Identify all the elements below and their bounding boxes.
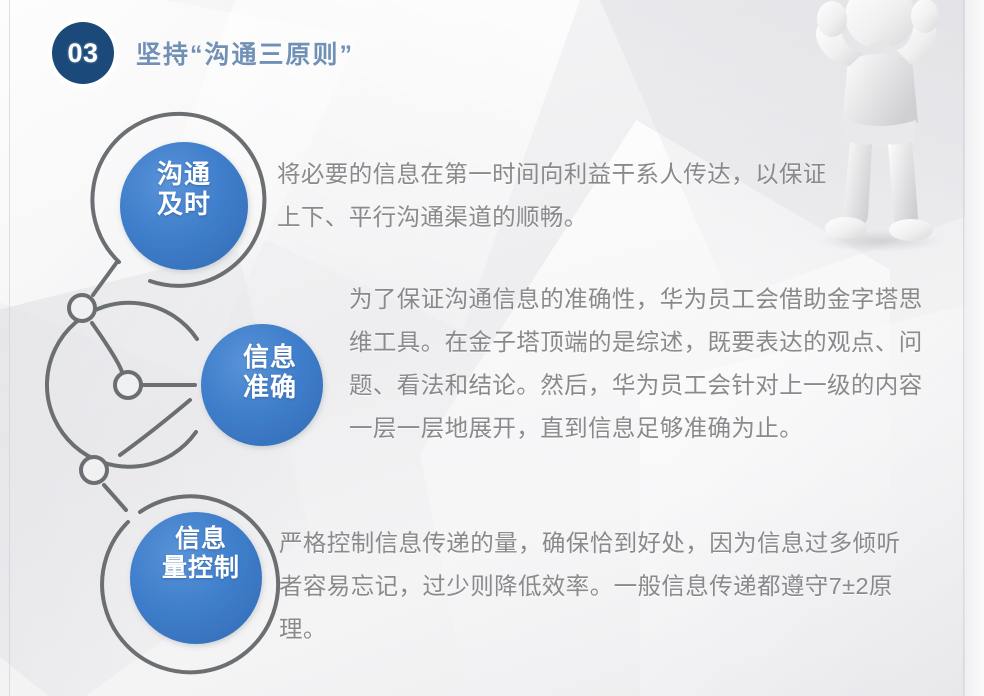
principle-body-2: 为了保证沟通信息的准确性，华为员工会借助金字塔思维工具。在金子塔顶端的是综述，既… <box>349 278 927 450</box>
left-edge-line <box>9 0 10 696</box>
slide-canvas: 03 坚持“沟通三原则” <box>0 0 984 696</box>
principle-body-3: 严格控制信息传递的量，确保恰到好处，因为信息过多倾听者容易忘记，过少则降低效率。… <box>279 522 919 651</box>
principle-body-1: 将必要的信息在第一时间向利益干系人传达，以保证上下、平行沟通渠道的顺畅。 <box>277 153 837 239</box>
section-number-badge: 03 <box>52 22 114 84</box>
right-edge-panel <box>965 0 984 696</box>
slide-header: 03 坚持“沟通三原则” <box>52 22 354 84</box>
page-title: 坚持“沟通三原则” <box>136 35 354 71</box>
section-number: 03 <box>67 40 98 67</box>
